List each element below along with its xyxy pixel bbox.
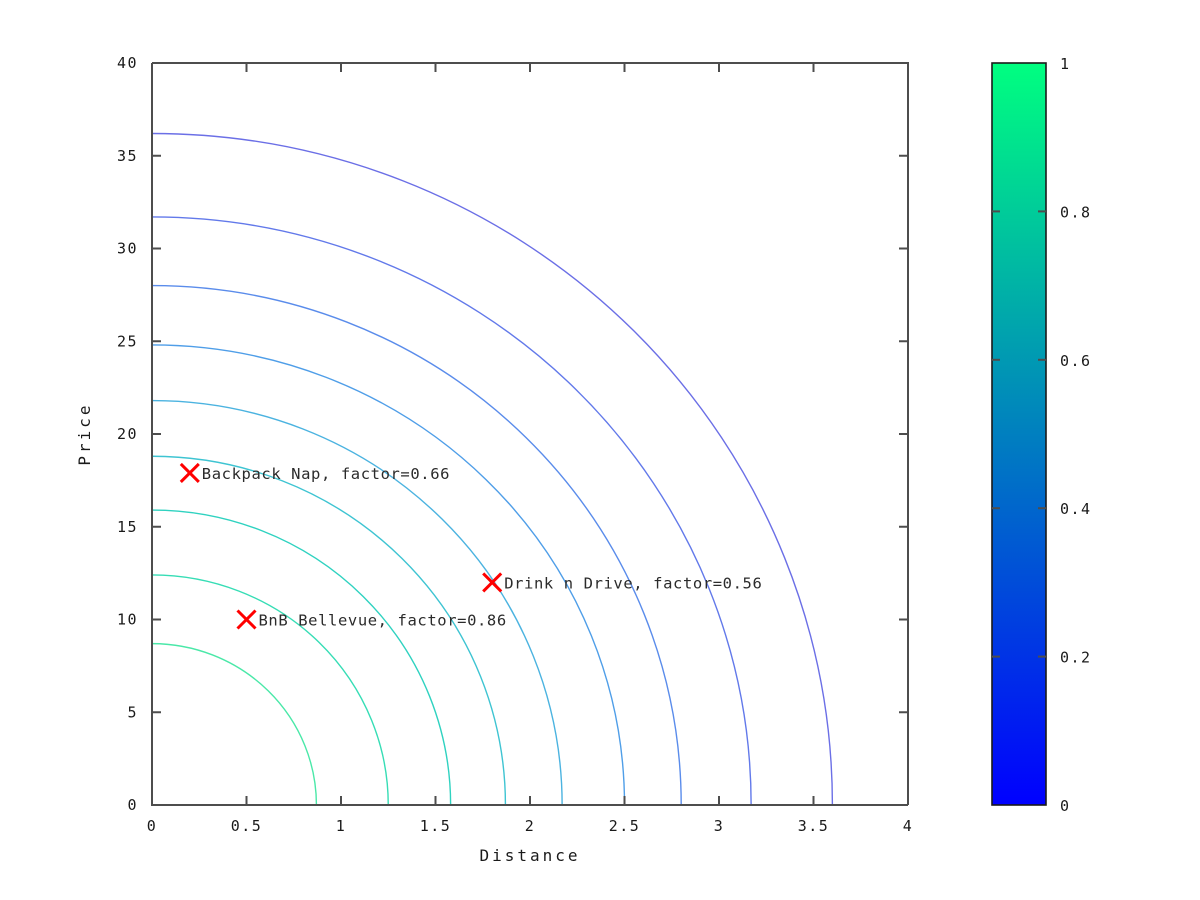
- annotation-label: Drink n Drive, factor=0.56: [504, 574, 762, 592]
- colorbar-tick-label: 0.2: [1060, 649, 1092, 667]
- x-tick-label: 0.5: [231, 817, 263, 835]
- colorbar-tick-label: 0.8: [1060, 203, 1092, 221]
- x-tick-label: 0: [147, 817, 158, 835]
- annotation-point[interactable]: BnB Bellevue, factor=0.86: [238, 611, 507, 630]
- colorbar: 00.20.40.60.81: [992, 55, 1092, 815]
- y-tick-label: 30: [117, 240, 138, 258]
- y-tick-label: 15: [117, 518, 138, 536]
- y-tick-label: 20: [117, 425, 138, 443]
- x-tick-label: 3: [714, 817, 725, 835]
- x-tick-label: 3.5: [798, 817, 830, 835]
- y-tick-label: 25: [117, 332, 138, 350]
- y-tick-label: 40: [117, 54, 138, 72]
- annotation-point[interactable]: Drink n Drive, factor=0.56: [483, 573, 762, 592]
- plot-background: [152, 63, 908, 805]
- x-tick-label: 1: [336, 817, 347, 835]
- colorbar-tick-label: 0: [1060, 797, 1071, 815]
- y-tick-label: 35: [117, 147, 138, 165]
- colorbar-tick-label: 0.6: [1060, 352, 1092, 370]
- annotation-label: BnB Bellevue, factor=0.86: [259, 612, 507, 630]
- annotation-point[interactable]: Backpack Nap, factor=0.66: [181, 464, 450, 483]
- x-tick-label: 4: [903, 817, 914, 835]
- y-tick-label: 5: [127, 703, 138, 721]
- annotation-label: Backpack Nap, factor=0.66: [202, 465, 450, 483]
- x-tick-label: 2.5: [609, 817, 641, 835]
- colorbar-gradient: [992, 63, 1046, 805]
- contour-plot-figure: 00.511.522.533.54 0510152025303540 Dista…: [0, 0, 1200, 900]
- y-axis-title: Price: [75, 402, 94, 465]
- plot-canvas: 00.511.522.533.54 0510152025303540 Dista…: [0, 0, 1200, 900]
- colorbar-tick-label: 1: [1060, 55, 1071, 73]
- x-axis-title: Distance: [479, 846, 580, 865]
- y-tick-label: 0: [127, 796, 138, 814]
- x-tick-label: 1.5: [420, 817, 452, 835]
- y-tick-label: 10: [117, 611, 138, 629]
- x-tick-label: 2: [525, 817, 536, 835]
- colorbar-tick-label: 0.4: [1060, 500, 1092, 518]
